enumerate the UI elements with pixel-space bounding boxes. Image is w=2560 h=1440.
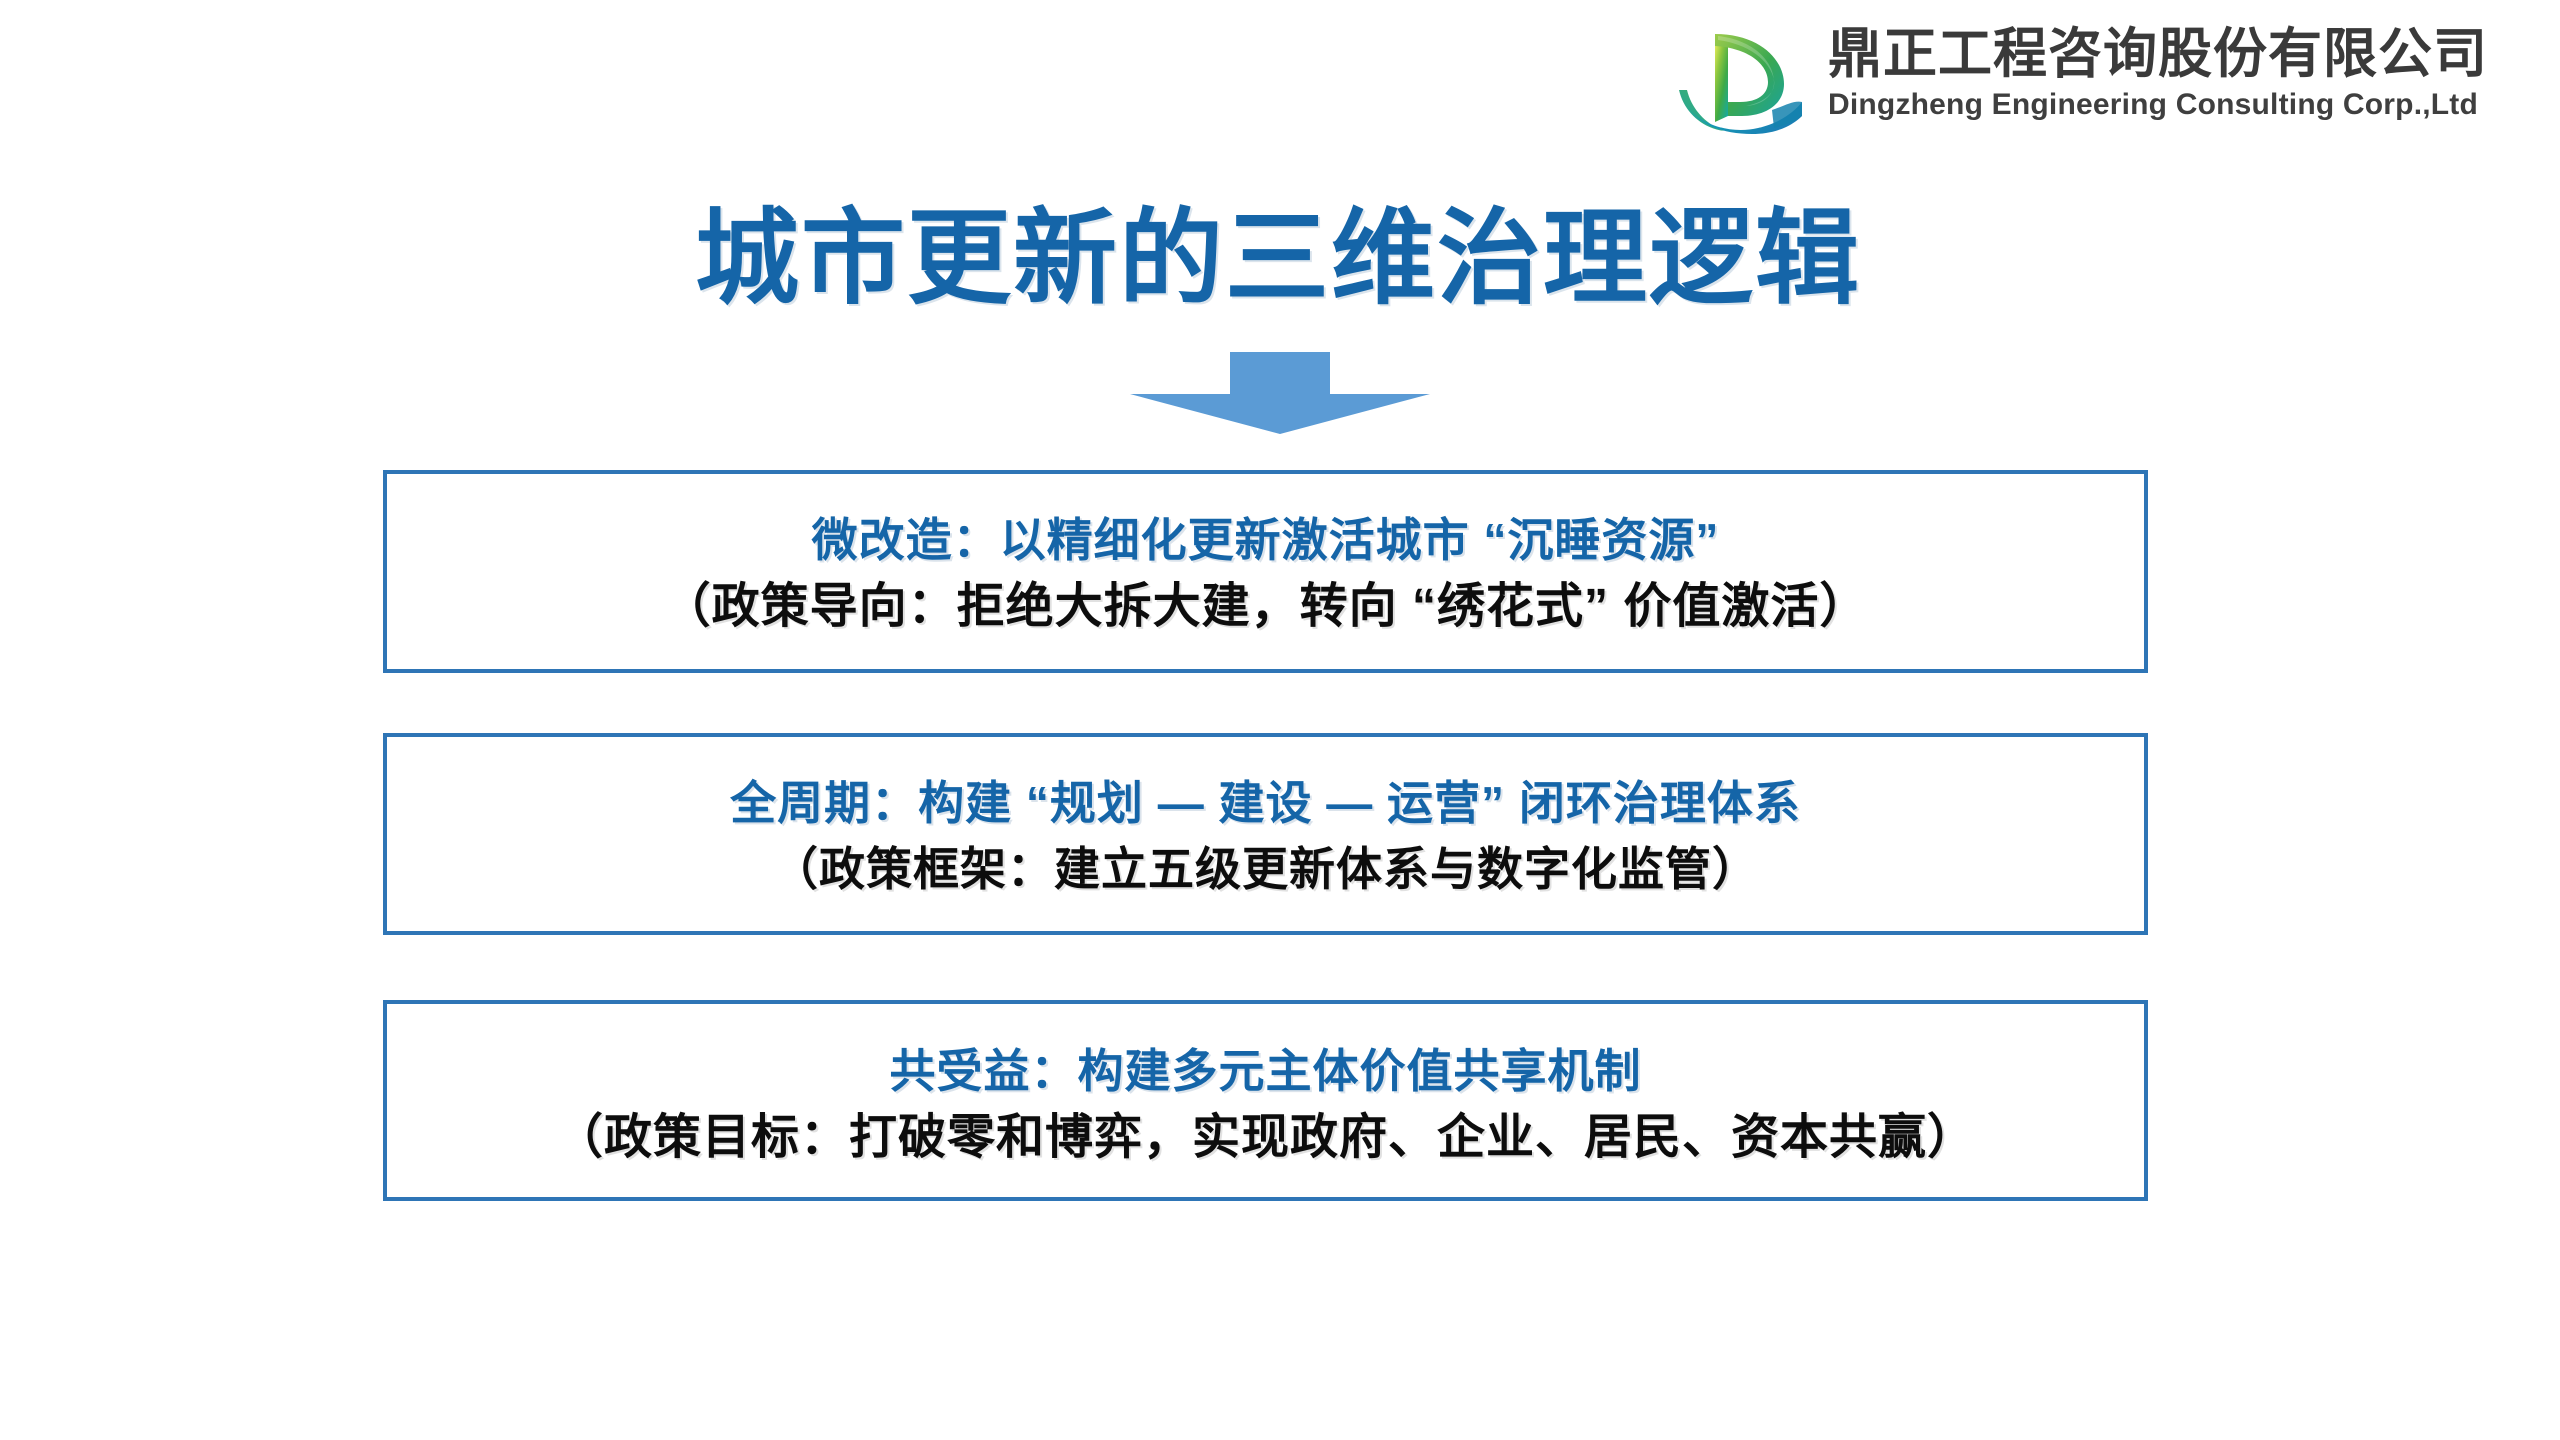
box-detail: （政策目标：打破零和博弈，实现政府、企业、居民、资本共赢） — [555, 1106, 1976, 1171]
down-arrow-icon — [1130, 352, 1430, 434]
dingzheng-leaf-d-logo-icon — [1662, 12, 1810, 134]
company-name-cn: 鼎正工程咨询股份有限公司 — [1828, 26, 2488, 82]
company-name-group: 鼎正工程咨询股份有限公司 Dingzheng Engineering Consu… — [1828, 22, 2488, 124]
box-heading: 全周期：构建 “规划 — 建设 — 运营” 闭环治理体系 — [730, 772, 1801, 834]
box-detail: （政策导向：拒绝大拆大建，转向 “绣花式” 价值激活） — [663, 575, 1869, 640]
content-box-micro-renovation: 微改造：以精细化更新激活城市 “沉睡资源” （政策导向：拒绝大拆大建，转向 “绣… — [383, 470, 2148, 673]
company-name-en: Dingzheng Engineering Consulting Corp.,L… — [1828, 86, 2488, 124]
content-box-full-lifecycle: 全周期：构建 “规划 — 建设 — 运营” 闭环治理体系 （政策框架：建立五级更… — [383, 733, 2148, 935]
page-title: 城市更新的三维治理逻辑 — [0, 203, 2558, 315]
slide-canvas: 鼎正工程咨询股份有限公司 Dingzheng Engineering Consu… — [0, 0, 2560, 1440]
box-detail: （政策框架：建立五级更新体系与数字化监管） — [772, 838, 1759, 900]
box-heading: 微改造：以精细化更新激活城市 “沉睡资源” — [812, 509, 1720, 571]
box-heading: 共受益：构建多元主体价值共享机制 — [890, 1040, 1642, 1102]
content-box-shared-benefit: 共受益：构建多元主体价值共享机制 （政策目标：打破零和博弈，实现政府、企业、居民… — [383, 1000, 2148, 1201]
company-logo-block: 鼎正工程咨询股份有限公司 Dingzheng Engineering Consu… — [1662, 12, 2488, 134]
